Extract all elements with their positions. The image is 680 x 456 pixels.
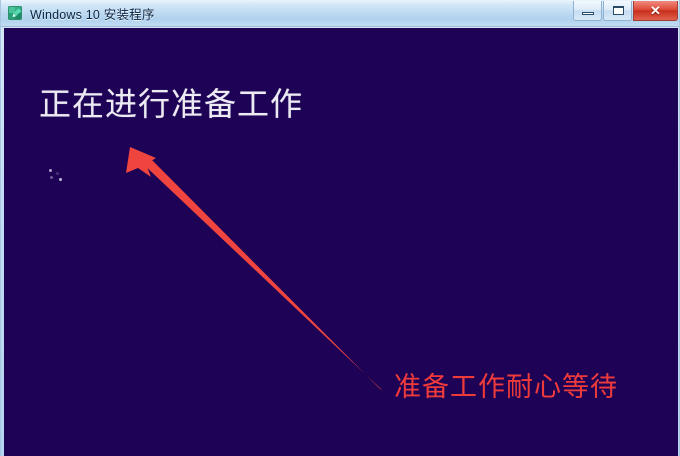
close-icon: ✕ <box>634 1 677 20</box>
annotation-text: 准备工作耐心等待 <box>394 373 618 403</box>
windows-setup-icon <box>7 5 23 21</box>
spinner-dot <box>59 178 62 181</box>
spinner-dot <box>56 172 59 175</box>
setup-content-area: 正在进行准备工作 准备工作耐心等待 <box>4 28 678 456</box>
window-title: Windows 10 安装程序 <box>30 4 155 23</box>
minimize-button[interactable] <box>573 1 602 21</box>
loading-spinner <box>46 164 72 188</box>
setup-window: Windows 10 安装程序 ✕ 正在进行准备工作 <box>0 0 680 456</box>
maximize-icon <box>613 6 624 15</box>
minimize-icon <box>582 12 594 15</box>
title-bar-left: Windows 10 安装程序 <box>7 0 155 26</box>
maximize-button[interactable] <box>603 1 632 21</box>
title-bar[interactable]: Windows 10 安装程序 ✕ <box>1 0 680 27</box>
spinner-dot <box>50 176 53 179</box>
page-title: 正在进行准备工作 <box>39 86 303 123</box>
window-controls: ✕ <box>572 1 678 23</box>
spinner-dot <box>49 169 52 172</box>
close-button[interactable]: ✕ <box>633 1 678 21</box>
